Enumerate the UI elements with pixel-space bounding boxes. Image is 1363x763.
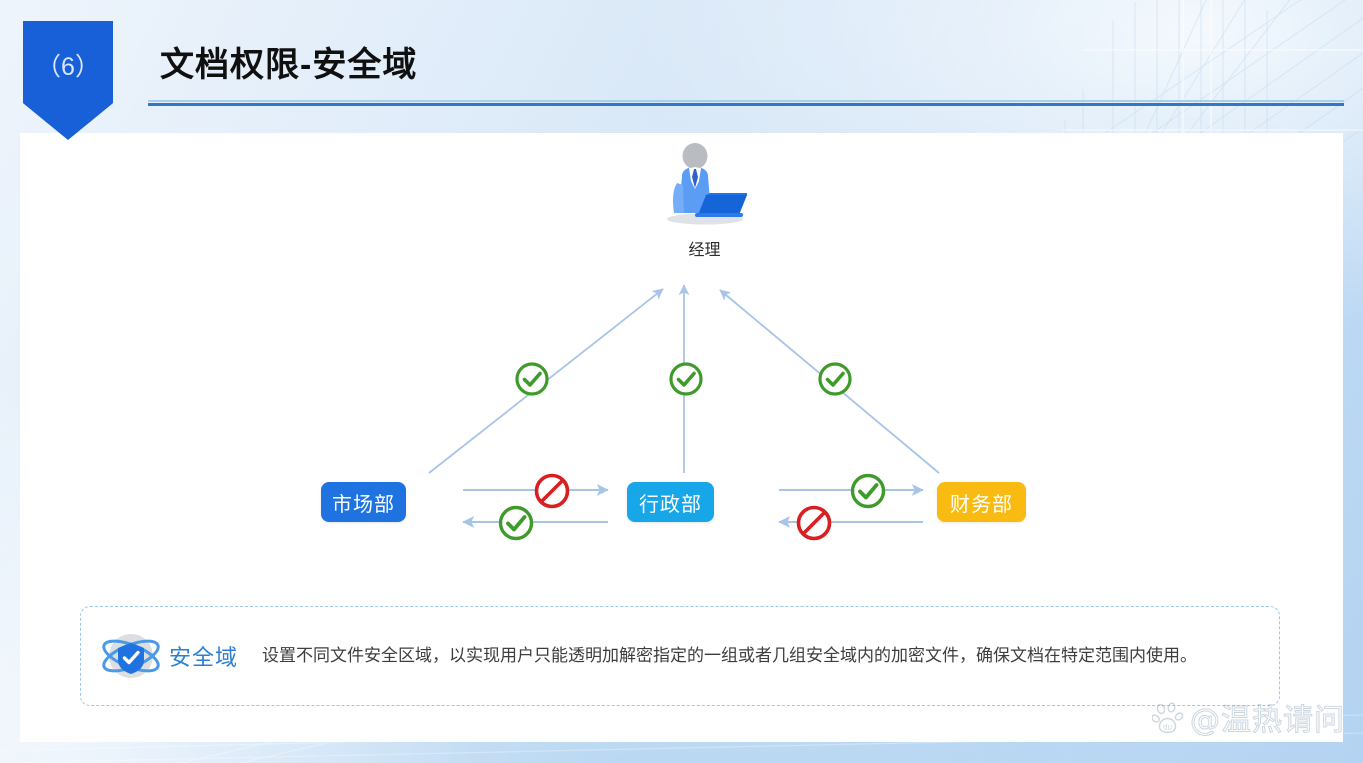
baidu-paw-icon: du — [1152, 700, 1186, 734]
svg-text:du: du — [1163, 722, 1172, 731]
department-box-market[interactable]: 市场部 — [321, 482, 406, 522]
manager-at-laptop-icon — [655, 143, 755, 227]
title-divider-thin — [148, 100, 1344, 102]
department-label-finance: 财务部 — [950, 488, 1013, 517]
footnote-text: 设置不同文件安全区域，以实现用户只能透明加解密指定的一组或者几组安全域内的加密文… — [262, 644, 1197, 669]
prohibited-icon-market-to-admin — [533, 472, 571, 510]
title-divider — [148, 100, 1344, 109]
title-divider-thick — [148, 103, 1344, 106]
check-circle-icon-finance-manager — [817, 361, 853, 397]
department-label-admin: 行政部 — [639, 488, 702, 517]
manager-label: 经理 — [637, 236, 772, 260]
watermark: du @温热请问 — [1152, 695, 1345, 739]
check-circle-icon-admin-manager — [668, 361, 704, 397]
watermark-text: @温热请问 — [1190, 695, 1345, 739]
slide: （6） 文档权限-安全域 — [0, 0, 1363, 763]
section-number-label: （6） — [23, 47, 113, 83]
content-card: 经理 — [20, 133, 1343, 742]
page-title: 文档权限-安全域 — [160, 37, 417, 86]
section-number-badge: （6） — [23, 21, 113, 140]
security-domain-shield-icon — [99, 627, 163, 685]
footnote-tag: 安全域 — [169, 640, 238, 672]
security-domain-diagram: 经理 — [20, 133, 1343, 603]
footnote-panel: 安全域 设置不同文件安全区域，以实现用户只能透明加解密指定的一组或者几组安全域内… — [80, 606, 1280, 706]
department-label-market: 市场部 — [332, 488, 395, 517]
department-box-finance[interactable]: 财务部 — [937, 482, 1026, 522]
prohibited-icon-finance-to-admin — [795, 504, 833, 542]
department-box-admin[interactable]: 行政部 — [627, 482, 714, 522]
check-circle-icon-admin-to-finance — [849, 472, 887, 510]
check-circle-icon-market-manager — [514, 361, 550, 397]
check-circle-icon-admin-to-market — [497, 504, 535, 542]
manager-node: 经理 — [637, 143, 772, 260]
